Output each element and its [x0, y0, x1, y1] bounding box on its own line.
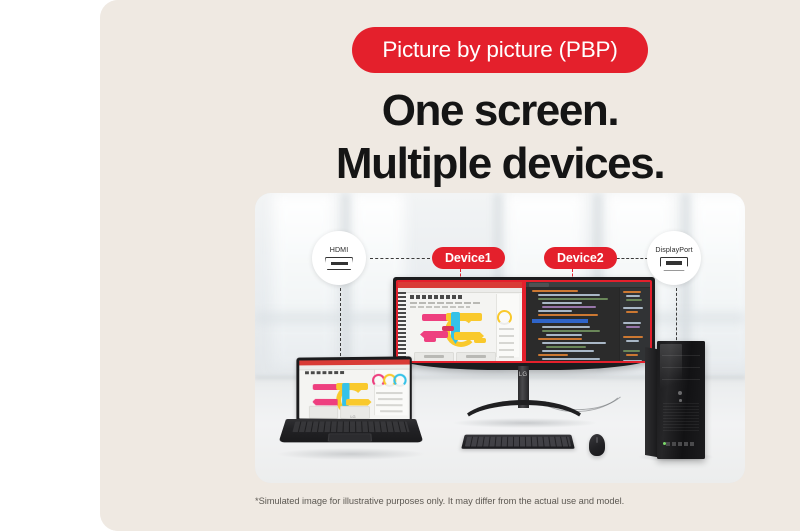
- connector-displayport-horizontal: [612, 258, 648, 259]
- displayport-port-icon: [660, 257, 688, 271]
- panel-text-line: [378, 398, 402, 400]
- panel-text-line: [499, 342, 514, 344]
- donut-chart: [393, 373, 406, 386]
- laptop-screen: LG: [299, 359, 409, 420]
- code-line: [542, 330, 600, 332]
- document-sidebar: [398, 292, 406, 361]
- monitor-shadow: [452, 418, 598, 428]
- document-text-line: [410, 306, 470, 308]
- panel-text-line: [499, 349, 514, 351]
- keyboard: [461, 435, 575, 449]
- connector-hdmi-horizontal: [370, 258, 430, 259]
- panel-line: [626, 311, 638, 313]
- document-title-line: [410, 295, 462, 299]
- code-line: [538, 314, 598, 316]
- panel-text-line: [499, 328, 514, 330]
- editor-selected-line: [532, 319, 588, 323]
- panel-line: [623, 291, 641, 293]
- keyboard-keys: [465, 436, 571, 446]
- desktop-tower: [645, 341, 705, 459]
- document-text-line: [410, 302, 482, 304]
- screen-half-right: [524, 280, 652, 363]
- code-line: [538, 338, 582, 340]
- status-led: [679, 399, 682, 402]
- panel-line: [626, 299, 642, 301]
- promo-page: Picture by picture (PBP) One screen. Mul…: [0, 0, 800, 531]
- port-badge-hdmi-label: HDMI: [330, 246, 349, 254]
- panel-text-line: [376, 392, 402, 394]
- headline-line-1: One screen.: [382, 86, 619, 135]
- panel-line: [623, 360, 642, 362]
- hdmi-port-icon: [325, 257, 353, 270]
- laptop-lid: LG: [296, 356, 411, 423]
- laptop-base: [279, 419, 424, 442]
- code-line: [542, 326, 590, 328]
- screen-half-left: [396, 280, 524, 363]
- panel-line: [626, 295, 640, 297]
- laptop-touchpad: [328, 434, 372, 442]
- port-badge-hdmi: HDMI: [312, 231, 366, 285]
- panel-line: [623, 350, 640, 352]
- tower-bay-line: [662, 367, 700, 368]
- card-title-line: [424, 355, 444, 358]
- document-side-panel: [496, 294, 519, 357]
- monitor-screen: [396, 280, 652, 363]
- panel-text-line: [376, 404, 402, 406]
- donut-chart: [497, 310, 512, 325]
- diagram-label-chip: [474, 338, 486, 343]
- disclaimer-text: *Simulated image for illustrative purpos…: [255, 496, 775, 506]
- tower-front-panel: [657, 341, 705, 459]
- device-pill-2: Device2: [544, 247, 617, 269]
- tower-bay-line: [662, 355, 700, 356]
- panel-line: [623, 336, 643, 338]
- document-card: [414, 352, 454, 363]
- tower-bay-line: [662, 379, 700, 380]
- laptop-keyboard: [292, 421, 409, 432]
- code-line: [538, 310, 572, 312]
- document-toolbar: [398, 288, 522, 293]
- code-line: [542, 342, 606, 344]
- device-pill-2-label: Device2: [557, 251, 604, 265]
- laptop: LG: [286, 357, 416, 455]
- card-title-line: [466, 355, 486, 358]
- document-title-line: [305, 371, 344, 375]
- page-title: One screen. Multiple devices.: [250, 84, 750, 190]
- code-line: [538, 294, 600, 296]
- feature-badge-label: Picture by picture (PBP): [382, 37, 617, 63]
- tower-gloss-highlight: [660, 344, 682, 406]
- document-side-panel: [374, 369, 408, 415]
- code-line: [532, 290, 578, 292]
- feature-badge: Picture by picture (PBP): [352, 27, 648, 73]
- code-editor: [526, 282, 650, 361]
- panel-text-line: [499, 335, 514, 337]
- laptop-infographic-document: [299, 359, 409, 420]
- infographic-document: [398, 282, 522, 361]
- tower-front-ports: [666, 442, 696, 446]
- panel-text-line: [499, 356, 514, 358]
- editor-code-area: [530, 290, 618, 359]
- tower-vent: [663, 403, 699, 433]
- diagram-label-chip: [442, 326, 454, 331]
- diagram-circle-yellow: [445, 315, 477, 347]
- editor-tab: [529, 283, 549, 287]
- device-pill-1: Device1: [432, 247, 505, 269]
- panel-text-line: [380, 410, 402, 412]
- port-badge-displayport: DisplayPort: [647, 231, 701, 285]
- monitor: [393, 277, 655, 370]
- panel-line: [626, 326, 640, 328]
- panel-line: [626, 354, 638, 356]
- promo-card: Picture by picture (PBP) One screen. Mul…: [100, 0, 800, 531]
- mouse: [589, 434, 605, 456]
- port-badge-displayport-label: DisplayPort: [655, 246, 692, 254]
- monitor-brand-logo: LG: [512, 372, 534, 378]
- connector-hdmi-vertical: [340, 288, 341, 356]
- panel-line: [623, 322, 641, 324]
- headline-line-2: Multiple devices.: [250, 137, 750, 190]
- code-line: [542, 302, 582, 304]
- code-line: [542, 306, 596, 308]
- diagram-arrow-yellow: [346, 398, 372, 405]
- code-line: [546, 334, 582, 336]
- code-line: [538, 298, 608, 300]
- power-button[interactable]: [678, 391, 682, 395]
- device-pill-1-label: Device1: [445, 251, 492, 265]
- code-line: [546, 346, 586, 348]
- panel-line: [623, 307, 643, 309]
- document-card: [456, 352, 496, 363]
- panel-line: [626, 340, 639, 342]
- diagram-label-chip: [424, 337, 436, 342]
- diagram-arrow-pink: [312, 398, 337, 405]
